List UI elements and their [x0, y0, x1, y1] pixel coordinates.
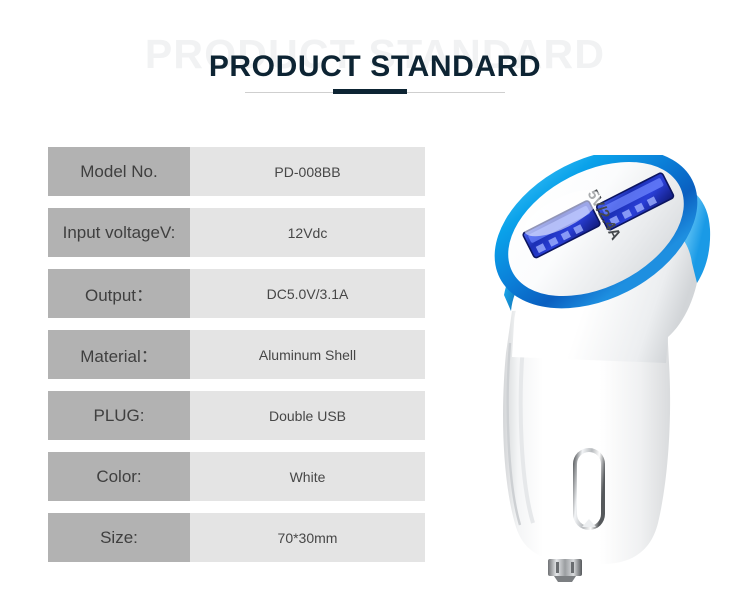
product-standard-page: PRODUCT STANDARD PRODUCT STANDARD Model …: [0, 0, 750, 615]
spec-value: 12Vdc: [190, 208, 425, 257]
spec-label: Color:: [48, 452, 190, 501]
specification-table: Model No. PD-008BB Input voltageV: 12Vdc…: [48, 147, 425, 574]
spec-value: White: [190, 452, 425, 501]
product-photo: 5V/2.4A: [470, 155, 750, 585]
page-title: PRODUCT STANDARD: [0, 52, 750, 82]
spec-value: 70*30mm: [190, 513, 425, 562]
spec-label: Model No.: [48, 147, 190, 196]
spec-value: DC5.0V/3.1A: [190, 269, 425, 318]
table-row: Output： DC5.0V/3.1A: [48, 269, 425, 318]
table-row: Material： Aluminum Shell: [48, 330, 425, 379]
spec-label: Input voltageV:: [48, 208, 190, 257]
page-header: PRODUCT STANDARD PRODUCT STANDARD: [0, 34, 750, 106]
table-row: Size: 70*30mm: [48, 513, 425, 562]
table-row: Input voltageV: 12Vdc: [48, 208, 425, 257]
spec-value: Aluminum Shell: [190, 330, 425, 379]
table-row: Color: White: [48, 452, 425, 501]
spec-label: Size:: [48, 513, 190, 562]
spec-value: PD-008BB: [190, 147, 425, 196]
spec-label: PLUG:: [48, 391, 190, 440]
table-row: PLUG: Double USB: [48, 391, 425, 440]
spec-value: Double USB: [190, 391, 425, 440]
title-divider-accent: [333, 89, 407, 94]
spec-label: Output：: [48, 269, 190, 318]
side-contact-strip: [573, 448, 605, 530]
table-row: Model No. PD-008BB: [48, 147, 425, 196]
spec-label: Material：: [48, 330, 190, 379]
